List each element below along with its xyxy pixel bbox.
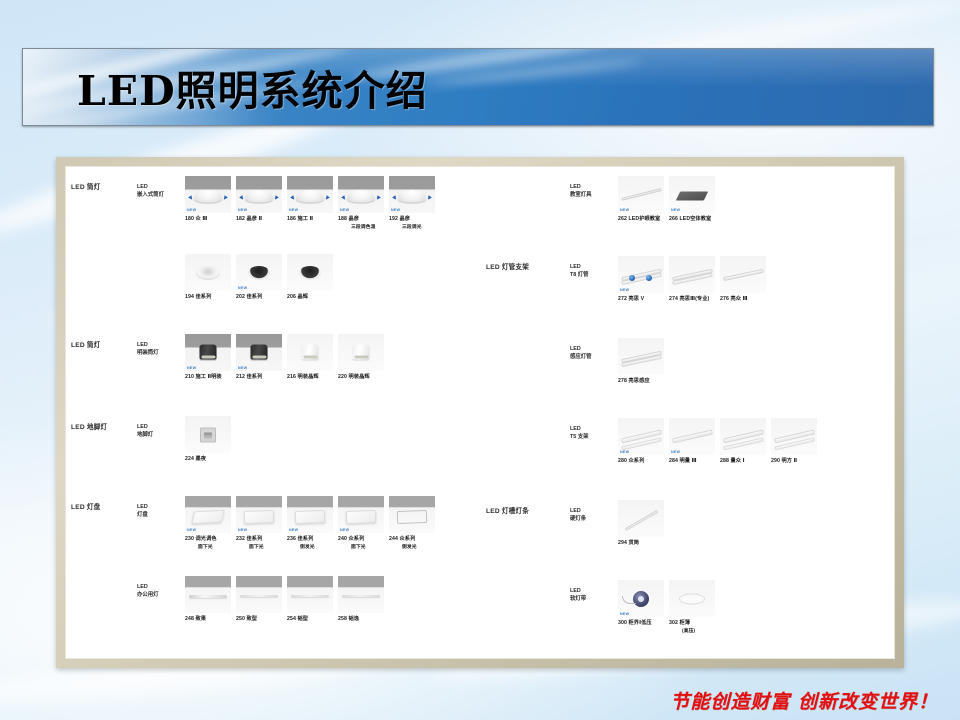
product-number: 220 xyxy=(338,374,347,380)
product-number: 272 xyxy=(618,296,627,302)
product-thumbnail xyxy=(771,418,817,455)
product-name: 亮众 Ⅲ xyxy=(731,296,748,302)
product-tile[interactable]: 216 明装晶辉 xyxy=(287,334,333,382)
product-thumbnail xyxy=(720,418,766,455)
product-number: 186 xyxy=(287,216,296,222)
page-title: LED照明系统介绍 xyxy=(77,57,428,117)
footer-slogan: 节能创造财富 创新改变世界！ xyxy=(670,687,938,714)
product-thumbnail xyxy=(287,334,333,371)
product-name: 贯简 xyxy=(629,540,640,546)
catalog-group-row: 194 佳系列NEW202 佳系列206 晶辉 xyxy=(65,254,480,302)
product-caption: 280 众系列 xyxy=(618,458,664,466)
subcategory-label-en: LED xyxy=(137,584,148,590)
new-badge: NEW xyxy=(620,208,629,212)
product-name: 佳系列 xyxy=(196,294,212,300)
product-caption: 300 柜界Ⅰ低压 xyxy=(618,620,664,628)
product-name: 施工 Ⅱ明装 xyxy=(196,374,222,380)
subcategory-title: LED感应灯管 xyxy=(570,338,618,361)
product-caption: 266 LED空体教室 xyxy=(669,216,715,224)
product-thumbnail: NEW xyxy=(389,176,435,213)
catalog-group-row: LED 地脚灯LED地脚灯224 墨夜 xyxy=(65,416,480,464)
category-title: LED 筒灯 xyxy=(65,334,137,351)
product-number: 294 xyxy=(618,540,627,546)
new-badge: NEW xyxy=(340,208,349,212)
product-pictogram xyxy=(618,338,664,375)
product-tile[interactable]: NEW230 调光调色面下光 xyxy=(185,496,231,551)
product-name: 晶彦 Ⅱ xyxy=(247,216,263,222)
product-number: 216 xyxy=(287,374,296,380)
product-pictogram xyxy=(287,254,333,291)
catalog-group-row: LED 灯盘LED灯盘NEW230 调光调色面下光NEW232 佳系列面下光NE… xyxy=(65,496,480,551)
product-caption: 244 众系列侧发光 xyxy=(389,536,435,551)
product-tile[interactable]: NEW232 佳系列面下光 xyxy=(236,496,282,551)
product-number: 224 xyxy=(185,456,194,462)
product-tile-list: NEW272 亮思 V274 亮思Ⅲ(专业)276 亮众 Ⅲ xyxy=(618,256,766,304)
subcategory-title: LED明装筒灯 xyxy=(137,334,185,357)
product-name: 调光调色 xyxy=(196,536,217,542)
product-name: 佳系列 xyxy=(247,374,263,380)
product-number: 262 xyxy=(618,216,627,222)
product-tile[interactable]: NEW202 佳系列 xyxy=(236,254,282,302)
product-tile-list: 248 致果250 致型254 韬型258 韬逸 xyxy=(185,576,384,624)
subcategory-label-en: LED xyxy=(570,346,581,352)
product-tile-list: NEW180 众 ⅢNEW182 晶彦 ⅡNEW186 施工 ⅡNEW188 晶… xyxy=(185,176,435,231)
catalog-group-row: LED 筒灯LED嵌入式筒灯NEW180 众 ⅢNEW182 晶彦 ⅡNEW18… xyxy=(65,176,480,231)
subcategory-label-cn: T8 灯管 xyxy=(570,272,589,278)
product-name: 明方 Ⅱ xyxy=(782,458,798,464)
product-number: 266 xyxy=(669,216,678,222)
product-tile[interactable]: NEW240 众系列面下光 xyxy=(338,496,384,551)
category-title: LED 灯管支架 xyxy=(480,256,570,273)
subcategory-label-cn: 嵌入式筒灯 xyxy=(137,192,164,198)
new-badge: NEW xyxy=(289,528,298,532)
catalog-group-row: LED 筒灯LED明装筒灯NEW210 施工 Ⅱ明装NEW212 佳系列216 … xyxy=(65,334,480,382)
category-title: LED 地脚灯 xyxy=(65,416,137,433)
product-number: 290 xyxy=(771,458,780,464)
product-name: 众系列 xyxy=(349,536,365,542)
subcategory-label-en: LED xyxy=(137,342,148,348)
product-number: 258 xyxy=(338,616,347,622)
product-caption: 212 佳系列 xyxy=(236,374,282,382)
product-pictogram xyxy=(669,580,715,617)
product-name: 韬逸 xyxy=(349,616,360,622)
catalog-group-row: LED 灯槽灯条LED硬灯条294 贯简 xyxy=(480,500,895,548)
product-thumbnail xyxy=(618,500,664,537)
new-badge: NEW xyxy=(238,208,247,212)
catalog-group-row: LED办公用灯248 致果250 致型254 韬型258 韬逸 xyxy=(65,576,480,624)
product-number: 250 xyxy=(236,616,245,622)
new-badge: NEW xyxy=(187,528,196,532)
product-thumbnail: NEW xyxy=(338,496,384,533)
product-subcaption: 侧发光 xyxy=(287,544,333,551)
subcategory-title: LEDT8 灯管 xyxy=(570,256,618,279)
product-caption: 202 佳系列 xyxy=(236,294,282,302)
product-caption: 216 明装晶辉 xyxy=(287,374,333,382)
product-tile[interactable]: 250 致型 xyxy=(236,576,282,624)
product-thumbnail xyxy=(338,334,384,371)
product-name: 明装晶辉 xyxy=(298,374,319,380)
product-thumbnail xyxy=(185,254,231,291)
product-tile[interactable]: NEW272 亮思 V xyxy=(618,256,664,304)
subcategory-label-en: LED xyxy=(570,508,581,514)
category-title xyxy=(480,338,570,346)
product-thumbnail: NEW xyxy=(287,176,333,213)
subcategory-label-cn: 地脚灯 xyxy=(137,432,153,438)
product-name: 墨夜 xyxy=(196,456,207,462)
product-tile[interactable]: 276 亮众 Ⅲ xyxy=(720,256,766,304)
product-caption: 180 众 Ⅲ xyxy=(185,216,231,224)
product-tile[interactable]: 220 明装晶辉 xyxy=(338,334,384,382)
product-tile[interactable]: NEW182 晶彦 Ⅱ xyxy=(236,176,282,231)
product-thumbnail xyxy=(720,256,766,293)
product-number: 278 xyxy=(618,378,627,384)
product-number: 236 xyxy=(287,536,296,542)
new-badge: NEW xyxy=(238,528,247,532)
product-caption: 182 晶彦 Ⅱ xyxy=(236,216,282,224)
product-caption: 294 贯简 xyxy=(618,540,664,548)
product-number: 274 xyxy=(669,296,678,302)
product-tile[interactable]: 294 贯简 xyxy=(618,500,664,548)
product-tile[interactable]: 258 韬逸 xyxy=(338,576,384,624)
product-thumbnail: NEW xyxy=(236,176,282,213)
subcategory-label-cn: 软灯带 xyxy=(570,596,586,602)
product-name: 佳系列 xyxy=(247,294,263,300)
category-title xyxy=(65,576,137,584)
product-number: 240 xyxy=(338,536,347,542)
category-title: LED 筒灯 xyxy=(65,176,137,193)
product-thumbnail: NEW xyxy=(236,254,282,291)
subcategory-label-en: LED xyxy=(137,424,148,430)
product-tile[interactable]: 274 亮思Ⅲ(专业) xyxy=(669,256,715,304)
product-subcaption: 三段调色温 xyxy=(338,224,384,231)
product-caption: 210 施工 Ⅱ明装 xyxy=(185,374,231,382)
new-badge: NEW xyxy=(620,288,629,292)
product-number: 288 xyxy=(720,458,729,464)
product-caption: 236 佳系列侧发光 xyxy=(287,536,333,551)
subcategory-title: LEDT5 支架 xyxy=(570,418,618,441)
product-subcaption: 面下光 xyxy=(236,544,282,551)
product-tile[interactable]: 224 墨夜 xyxy=(185,416,231,464)
new-badge: NEW xyxy=(187,208,196,212)
catalog-group-row: LED 灯管支架LEDT8 灯管NEW272 亮思 V274 亮思Ⅲ(专业)27… xyxy=(480,256,895,304)
product-caption: 288 量众 Ⅰ xyxy=(720,458,766,466)
product-caption: 224 墨夜 xyxy=(185,456,231,464)
subcategory-label-cn: 教室灯具 xyxy=(570,192,592,198)
product-name: 佳系列 xyxy=(298,536,314,542)
product-caption: 276 亮众 Ⅲ xyxy=(720,296,766,304)
product-number: 202 xyxy=(236,294,245,300)
product-number: 248 xyxy=(185,616,194,622)
product-name: 明装晶辉 xyxy=(349,374,370,380)
product-name: 晶彦 xyxy=(400,216,411,222)
product-thumbnail: NEW xyxy=(669,176,715,213)
product-number: 232 xyxy=(236,536,245,542)
category-title xyxy=(480,176,570,184)
product-caption: 188 晶彦三段调色温 xyxy=(338,216,384,231)
catalog-sheet: LED 筒灯LED嵌入式筒灯NEW180 众 ⅢNEW182 晶彦 ⅡNEW18… xyxy=(65,166,895,659)
subcategory-label-en: LED xyxy=(570,588,581,594)
product-number: 206 xyxy=(287,294,296,300)
product-pictogram xyxy=(771,418,817,455)
product-name: 众 Ⅲ xyxy=(196,216,208,222)
subcategory-label-cn: 感应灯管 xyxy=(570,354,592,360)
subcategory-label-en: LED xyxy=(570,184,581,190)
catalog-right-column: LED教室灯具NEW262 LED护眼教室NEW266 LED空体教室LED 灯… xyxy=(480,166,895,659)
subcategory-title: LED办公用灯 xyxy=(137,576,185,599)
product-caption: 186 施工 Ⅱ xyxy=(287,216,333,224)
product-caption: 274 亮思Ⅲ(专业) xyxy=(669,296,715,304)
product-name: 亮思 V xyxy=(629,296,645,302)
product-thumbnail xyxy=(338,576,384,613)
product-name: 众系列 xyxy=(400,536,416,542)
product-tile[interactable]: 288 量众 Ⅰ xyxy=(720,418,766,466)
catalog-frame: LED 筒灯LED嵌入式筒灯NEW180 众 ⅢNEW182 晶彦 ⅡNEW18… xyxy=(56,157,904,668)
product-caption: 220 明装晶辉 xyxy=(338,374,384,382)
product-tile[interactable]: NEW192 晶彦三段调光 xyxy=(389,176,435,231)
product-pictogram xyxy=(236,576,282,613)
product-number: 182 xyxy=(236,216,245,222)
new-badge: NEW xyxy=(340,528,349,532)
product-tile-list: NEW300 柜界Ⅰ低压302 柜薄(高压) xyxy=(618,580,715,635)
product-tile[interactable]: 248 致果 xyxy=(185,576,231,624)
subcategory-label-en: LED xyxy=(137,184,148,190)
product-pictogram xyxy=(185,254,231,291)
subcategory-title xyxy=(137,254,185,261)
product-pictogram xyxy=(389,496,435,533)
product-number: 212 xyxy=(236,374,245,380)
subcategory-label-en: LED xyxy=(570,264,581,270)
product-thumbnail xyxy=(389,496,435,533)
product-tile[interactable]: NEW284 明量 Ⅲ xyxy=(669,418,715,466)
product-thumbnail: NEW xyxy=(618,176,664,213)
product-thumbnail: NEW xyxy=(236,334,282,371)
product-tile[interactable]: 206 晶辉 xyxy=(287,254,333,302)
product-caption: 290 明方 Ⅱ xyxy=(771,458,817,466)
subcategory-title: LED地脚灯 xyxy=(137,416,185,439)
product-name: 佳系列 xyxy=(247,536,263,542)
product-tile[interactable]: 244 众系列侧发光 xyxy=(389,496,435,551)
product-name: 施工 Ⅱ xyxy=(298,216,314,222)
subcategory-title: LED教室灯具 xyxy=(570,176,618,199)
product-pictogram xyxy=(287,334,333,371)
product-subcaption: (高压) xyxy=(669,628,715,635)
product-caption: 240 众系列面下光 xyxy=(338,536,384,551)
product-name: LED空体教室 xyxy=(680,216,712,222)
product-name: 致果 xyxy=(196,616,207,622)
product-number: 300 xyxy=(618,620,627,626)
subcategory-label-cn: 灯盘 xyxy=(137,512,148,518)
product-tile-list: NEW262 LED护眼教室NEW266 LED空体教室 xyxy=(618,176,715,224)
product-pictogram xyxy=(338,576,384,613)
category-title xyxy=(65,254,137,262)
product-tile[interactable]: NEW300 柜界Ⅰ低压 xyxy=(618,580,664,635)
product-name: LED护眼教室 xyxy=(629,216,661,222)
product-pictogram xyxy=(720,418,766,455)
subcategory-label-cn: T5 支架 xyxy=(570,434,589,440)
product-thumbnail xyxy=(287,576,333,613)
catalog-group-row: LED感应灯管278 亮思感应 xyxy=(480,338,895,386)
product-name: 明量 Ⅲ xyxy=(680,458,697,464)
product-tile-list: 224 墨夜 xyxy=(185,416,231,464)
product-name: 柜界Ⅰ低压 xyxy=(629,620,652,626)
new-badge: NEW xyxy=(671,450,680,454)
new-badge: NEW xyxy=(620,450,629,454)
product-pictogram xyxy=(185,576,231,613)
product-tile[interactable]: NEW262 LED护眼教室 xyxy=(618,176,664,224)
product-number: 180 xyxy=(185,216,194,222)
product-caption: 284 明量 Ⅲ xyxy=(669,458,715,466)
product-tile-list: NEW230 调光调色面下光NEW232 佳系列面下光NEW236 佳系列侧发光… xyxy=(185,496,435,551)
product-name: 晶彦 xyxy=(349,216,360,222)
product-name: 晶辉 xyxy=(298,294,309,300)
product-caption: 194 佳系列 xyxy=(185,294,231,302)
subcategory-label-en: LED xyxy=(570,426,581,432)
product-number: 194 xyxy=(185,294,194,300)
product-subcaption: 侧发光 xyxy=(389,544,435,551)
catalog-left-column: LED 筒灯LED嵌入式筒灯NEW180 众 ⅢNEW182 晶彦 ⅡNEW18… xyxy=(65,166,480,659)
product-tile-list: 294 贯简 xyxy=(618,500,664,548)
product-thumbnail: NEW xyxy=(618,418,664,455)
product-number: 192 xyxy=(389,216,398,222)
subcategory-title: LED嵌入式筒灯 xyxy=(137,176,185,199)
product-subcaption: 三段调光 xyxy=(389,224,435,231)
product-tile[interactable]: NEW186 施工 Ⅱ xyxy=(287,176,333,231)
category-title xyxy=(480,580,570,588)
product-caption: 272 亮思 V xyxy=(618,296,664,304)
product-tile[interactable]: NEW212 佳系列 xyxy=(236,334,282,382)
product-name: 柜薄 xyxy=(680,620,691,626)
category-title: LED 灯盘 xyxy=(65,496,137,513)
product-tile[interactable]: 278 亮思感应 xyxy=(618,338,664,386)
product-thumbnail: NEW xyxy=(185,334,231,371)
subcategory-label-cn: 办公用灯 xyxy=(137,592,159,598)
slide-title-banner: LED照明系统介绍 xyxy=(22,48,934,126)
product-pictogram xyxy=(338,334,384,371)
product-tile[interactable]: NEW280 众系列 xyxy=(618,418,664,466)
product-tile-list: 278 亮思感应 xyxy=(618,338,664,386)
product-thumbnail xyxy=(287,254,333,291)
product-pictogram xyxy=(185,416,231,453)
subcategory-label-cn: 明装筒灯 xyxy=(137,350,159,356)
new-badge: NEW xyxy=(391,208,400,212)
product-thumbnail xyxy=(669,580,715,617)
product-thumbnail: NEW xyxy=(618,256,664,293)
new-badge: NEW xyxy=(620,612,629,616)
product-name: 量众 Ⅰ xyxy=(731,458,745,464)
product-tile[interactable]: NEW210 施工 Ⅱ明装 xyxy=(185,334,231,382)
category-title xyxy=(480,418,570,426)
new-badge: NEW xyxy=(289,208,298,212)
product-number: 276 xyxy=(720,296,729,302)
product-number: 210 xyxy=(185,374,194,380)
product-thumbnail: NEW xyxy=(287,496,333,533)
product-thumbnail xyxy=(236,576,282,613)
product-caption: 232 佳系列面下光 xyxy=(236,536,282,551)
product-tile[interactable]: NEW180 众 Ⅲ xyxy=(185,176,231,231)
product-thumbnail xyxy=(185,416,231,453)
product-number: 254 xyxy=(287,616,296,622)
product-name: 众系列 xyxy=(629,458,645,464)
category-title: LED 灯槽灯条 xyxy=(480,500,570,517)
product-pictogram xyxy=(618,500,664,537)
subcategory-title: LED灯盘 xyxy=(137,496,185,519)
product-name: 韬型 xyxy=(298,616,309,622)
new-badge: NEW xyxy=(238,286,247,290)
catalog-group-row: LED教室灯具NEW262 LED护眼教室NEW266 LED空体教室 xyxy=(480,176,895,224)
product-tile-list: NEW210 施工 Ⅱ明装NEW212 佳系列216 明装晶辉220 明装晶辉 xyxy=(185,334,384,382)
subcategory-title: LED硬灯条 xyxy=(570,500,618,523)
product-caption: 248 致果 xyxy=(185,616,231,624)
catalog-group-row: LED软灯带NEW300 柜界Ⅰ低压302 柜薄(高压) xyxy=(480,580,895,635)
subcategory-label-en: LED xyxy=(137,504,148,510)
product-thumbnail: NEW xyxy=(618,580,664,617)
product-tile[interactable]: NEW188 晶彦三段调色温 xyxy=(338,176,384,231)
product-caption: 254 韬型 xyxy=(287,616,333,624)
product-subcaption: 面下光 xyxy=(185,544,231,551)
product-caption: 230 调光调色面下光 xyxy=(185,536,231,551)
product-tile[interactable]: 290 明方 Ⅱ xyxy=(771,418,817,466)
product-thumbnail: NEW xyxy=(669,418,715,455)
product-subcaption: 面下光 xyxy=(338,544,384,551)
product-caption: 262 LED护眼教室 xyxy=(618,216,664,224)
product-number: 302 xyxy=(669,620,678,626)
product-name: 亮思Ⅲ(专业) xyxy=(680,296,710,302)
product-thumbnail: NEW xyxy=(338,176,384,213)
product-pictogram xyxy=(669,256,715,293)
product-number: 188 xyxy=(338,216,347,222)
product-number: 230 xyxy=(185,536,194,542)
product-thumbnail: NEW xyxy=(185,496,231,533)
subcategory-label-cn: 硬灯条 xyxy=(570,516,586,522)
product-tile[interactable]: 194 佳系列 xyxy=(185,254,231,302)
product-thumbnail xyxy=(185,576,231,613)
product-name: 亮思感应 xyxy=(629,378,650,384)
product-tile[interactable]: NEW266 LED空体教室 xyxy=(669,176,715,224)
product-pictogram xyxy=(287,576,333,613)
product-caption: 302 柜薄(高压) xyxy=(669,620,715,635)
product-number: 280 xyxy=(618,458,627,464)
product-pictogram xyxy=(720,256,766,293)
new-badge: NEW xyxy=(671,208,680,212)
subcategory-title: LED软灯带 xyxy=(570,580,618,603)
product-thumbnail xyxy=(618,338,664,375)
product-thumbnail xyxy=(669,256,715,293)
product-number: 284 xyxy=(669,458,678,464)
product-tile-list: NEW280 众系列NEW284 明量 Ⅲ288 量众 Ⅰ290 明方 Ⅱ xyxy=(618,418,817,466)
product-name: 致型 xyxy=(247,616,258,622)
product-tile-list: 194 佳系列NEW202 佳系列206 晶辉 xyxy=(185,254,333,302)
product-tile[interactable]: 302 柜薄(高压) xyxy=(669,580,715,635)
product-thumbnail: NEW xyxy=(185,176,231,213)
product-caption: 250 致型 xyxy=(236,616,282,624)
product-caption: 206 晶辉 xyxy=(287,294,333,302)
product-caption: 258 韬逸 xyxy=(338,616,384,624)
catalog-group-row: LEDT5 支架NEW280 众系列NEW284 明量 Ⅲ288 量众 Ⅰ290… xyxy=(480,418,895,466)
product-tile[interactable]: 254 韬型 xyxy=(287,576,333,624)
product-caption: 192 晶彦三段调光 xyxy=(389,216,435,231)
product-thumbnail: NEW xyxy=(236,496,282,533)
new-badge: NEW xyxy=(238,366,247,370)
product-caption: 278 亮思感应 xyxy=(618,378,664,386)
new-badge: NEW xyxy=(187,366,196,370)
product-tile[interactable]: NEW236 佳系列侧发光 xyxy=(287,496,333,551)
product-number: 244 xyxy=(389,536,398,542)
